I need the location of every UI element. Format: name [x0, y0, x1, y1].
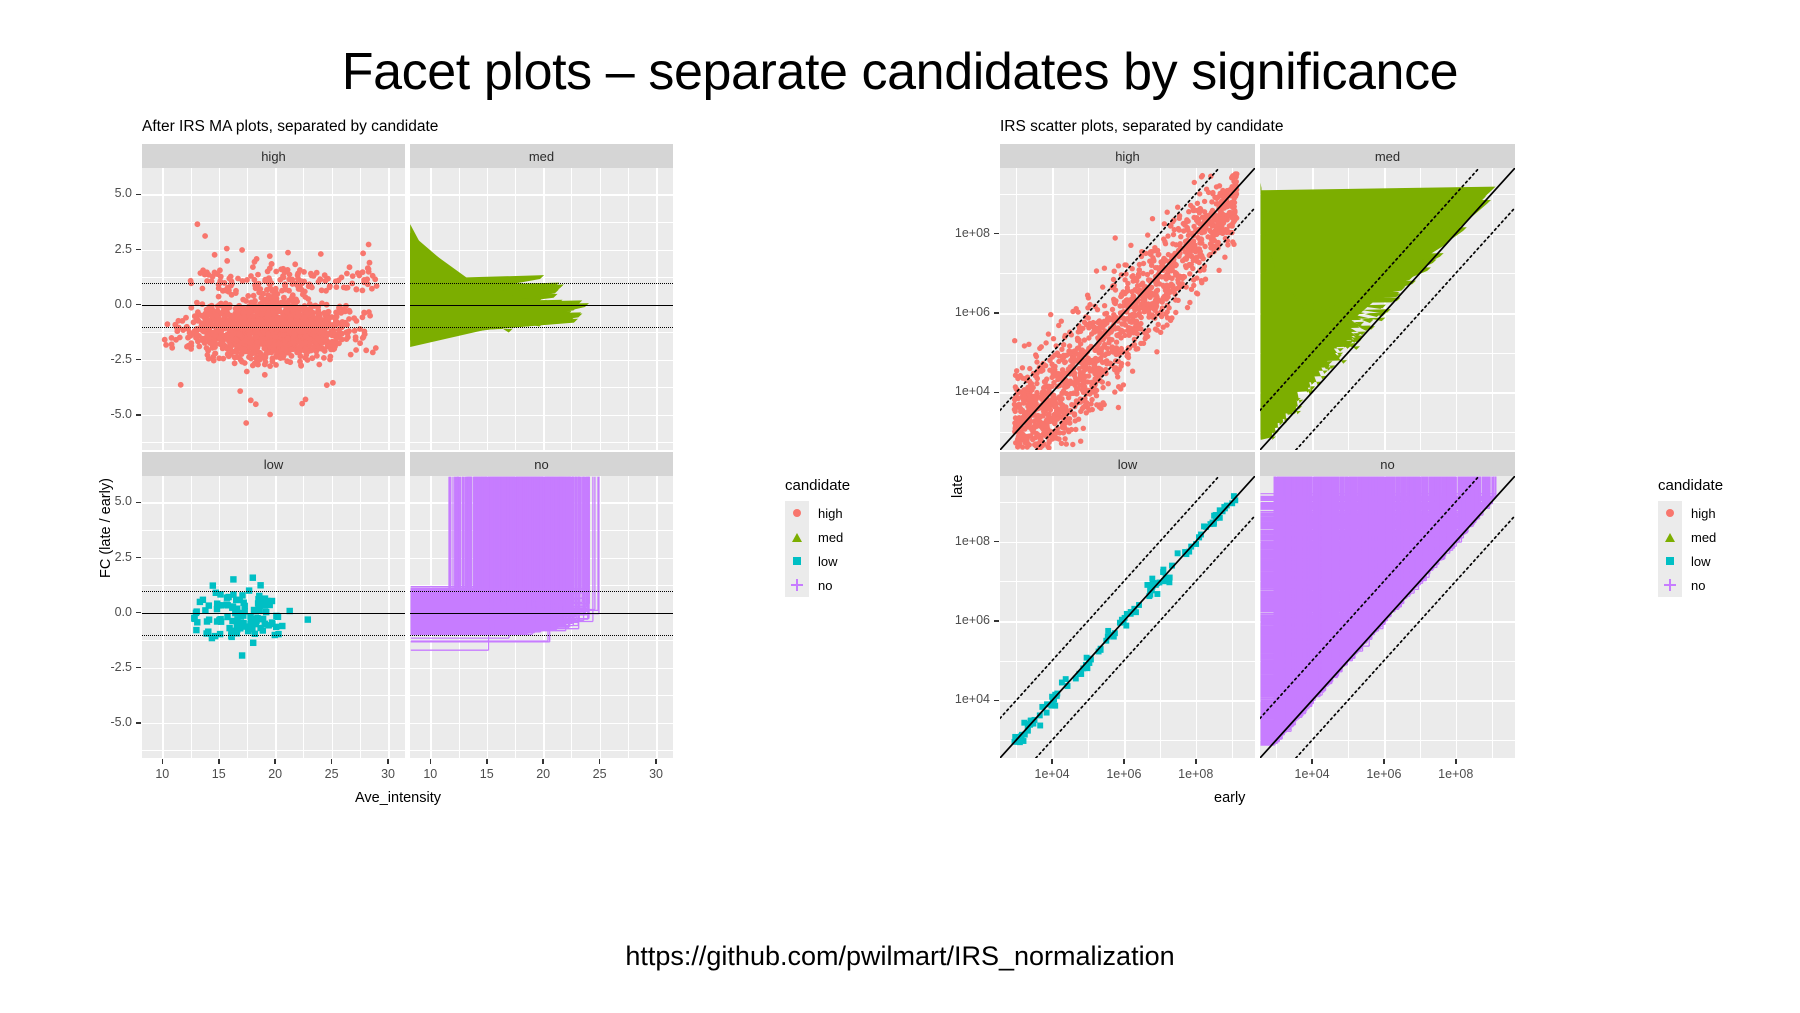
- ma-panel-high: [142, 168, 405, 450]
- ma-plot-x-axis-title: Ave_intensity: [355, 790, 441, 806]
- x-axis-tick-label: 30: [368, 767, 408, 781]
- y-axis-tick-label: 2.5: [90, 242, 132, 256]
- x-axis-tick-label: 20: [523, 767, 563, 781]
- x-axis-tick-mark: [599, 759, 601, 764]
- reference-lines-diagonal: [1000, 168, 1255, 450]
- reference-line-dotted: [410, 327, 673, 328]
- scatter-plot-y-axis-title: late: [950, 475, 966, 498]
- y-axis-tick-label: 5.0: [90, 186, 132, 200]
- square-marker: [1658, 549, 1682, 573]
- y-axis-tick-mark: [136, 249, 141, 251]
- plus-marker: [1658, 573, 1682, 597]
- legend-item-low[interactable]: low: [1658, 549, 1723, 573]
- reference-lines-diagonal: [1260, 168, 1515, 450]
- x-axis-tick-label: 1e+08: [1164, 767, 1228, 781]
- y-axis-tick-label: 0.0: [90, 297, 132, 311]
- circle-marker: [785, 501, 809, 525]
- x-axis-tick-mark: [1051, 759, 1053, 764]
- x-axis-tick-mark: [218, 759, 220, 764]
- y-axis-tick-label: 1e+08: [940, 226, 990, 240]
- ma-panel-med: [410, 168, 673, 450]
- y-axis-tick-mark: [136, 722, 141, 724]
- y-axis-tick-mark: [994, 392, 999, 394]
- ma-panel-no: [410, 476, 673, 758]
- legend-item-med[interactable]: med: [1658, 525, 1723, 549]
- facet-strip-no: no: [1260, 452, 1515, 476]
- data-points-med: [410, 168, 673, 450]
- x-axis-tick-mark: [655, 759, 657, 764]
- reference-line-zero: [410, 613, 673, 615]
- y-axis-tick-label: -2.5: [90, 660, 132, 674]
- legend-item-label: med: [818, 530, 843, 545]
- y-axis-tick-label: 1e+06: [940, 305, 990, 319]
- ma-plot-figure: After IRS MA plots, separated by candida…: [90, 118, 810, 838]
- y-axis-tick-label: 2.5: [90, 550, 132, 564]
- x-axis-tick-mark: [1123, 759, 1125, 764]
- x-axis-tick-label: 1e+06: [1092, 767, 1156, 781]
- data-points-low: [142, 476, 405, 758]
- legend-item-label: high: [1691, 506, 1716, 521]
- x-axis-tick-mark: [1311, 759, 1313, 764]
- y-axis-tick-mark: [136, 194, 141, 196]
- scatter-panel-low: [1000, 476, 1255, 758]
- legend-item-label: no: [818, 578, 832, 593]
- legend-item-high[interactable]: high: [785, 501, 850, 525]
- y-axis-tick-mark: [136, 502, 141, 504]
- legend-title: candidate: [1658, 477, 1723, 494]
- reference-line-dotted: [142, 635, 405, 636]
- legend-item-high[interactable]: high: [1658, 501, 1723, 525]
- scatter-plot-legend: candidate highmedlowno: [1658, 477, 1723, 597]
- x-axis-tick-label: 15: [467, 767, 507, 781]
- x-axis-tick-mark: [274, 759, 276, 764]
- y-axis-tick-mark: [994, 233, 999, 235]
- legend-item-no[interactable]: no: [785, 573, 850, 597]
- triangle-marker: [785, 525, 809, 549]
- legend-item-low[interactable]: low: [785, 549, 850, 573]
- facet-strip-med: med: [1260, 144, 1515, 168]
- y-axis-tick-label: 1e+06: [940, 613, 990, 627]
- reference-line-dotted: [142, 283, 405, 284]
- x-axis-tick-mark: [1383, 759, 1385, 764]
- x-axis-tick-label: 10: [410, 767, 450, 781]
- y-axis-tick-mark: [136, 612, 141, 614]
- facet-strip-high: high: [142, 144, 405, 168]
- y-axis-tick-mark: [136, 667, 141, 669]
- y-axis-tick-mark: [994, 620, 999, 622]
- y-axis-tick-label: -5.0: [90, 407, 132, 421]
- scatter-panel-high: [1000, 168, 1255, 450]
- facet-strip-label: med: [529, 149, 554, 164]
- legend-title: candidate: [785, 477, 850, 494]
- x-axis-tick-mark: [1455, 759, 1457, 764]
- x-axis-tick-label: 30: [636, 767, 676, 781]
- legend-item-label: low: [818, 554, 838, 569]
- ma-plot-legend: candidate highmedlowno: [785, 477, 850, 597]
- reference-line-zero: [410, 305, 673, 307]
- page-title: Facet plots – separate candidates by sig…: [0, 42, 1800, 102]
- plus-marker: [785, 573, 809, 597]
- x-axis-tick-label: 1e+04: [1280, 767, 1344, 781]
- x-axis-tick-mark: [387, 759, 389, 764]
- x-axis-tick-mark: [486, 759, 488, 764]
- x-axis-tick-mark: [430, 759, 432, 764]
- y-axis-tick-mark: [136, 414, 141, 416]
- facet-strip-label: no: [1380, 457, 1394, 472]
- facet-strip-med: med: [410, 144, 673, 168]
- facet-strip-no: no: [410, 452, 673, 476]
- reference-line-dotted: [410, 283, 673, 284]
- y-axis-tick-label: -5.0: [90, 715, 132, 729]
- reference-lines-diagonal: [1260, 476, 1515, 758]
- scatter-panel-no: [1260, 476, 1515, 758]
- facet-strip-label: high: [1115, 149, 1140, 164]
- facet-strip-label: low: [1118, 457, 1138, 472]
- x-axis-tick-label: 25: [580, 767, 620, 781]
- data-points-no: [410, 476, 673, 758]
- footer-url: https://github.com/pwilmart/IRS_normaliz…: [0, 941, 1800, 972]
- x-axis-tick-label: 20: [255, 767, 295, 781]
- y-axis-tick-label: -2.5: [90, 352, 132, 366]
- ma-panel-low: [142, 476, 405, 758]
- x-axis-tick-label: 25: [312, 767, 352, 781]
- reference-line-zero: [142, 613, 405, 615]
- x-axis-tick-mark: [542, 759, 544, 764]
- y-axis-tick-label: 1e+04: [940, 384, 990, 398]
- reference-lines-diagonal: [1000, 476, 1255, 758]
- facet-strip-label: med: [1375, 149, 1400, 164]
- square-marker: [785, 549, 809, 573]
- reference-line-dotted: [410, 635, 673, 636]
- legend-item-label: low: [1691, 554, 1711, 569]
- reference-line-dotted: [410, 591, 673, 592]
- legend-item-label: no: [1691, 578, 1705, 593]
- x-axis-tick-mark: [162, 759, 164, 764]
- y-axis-tick-mark: [136, 304, 141, 306]
- data-points-high: [142, 168, 405, 450]
- triangle-marker: [1658, 525, 1682, 549]
- x-axis-tick-mark: [331, 759, 333, 764]
- scatter-plot-x-axis-title: early: [1214, 790, 1245, 806]
- y-axis-tick-label: 1e+08: [940, 534, 990, 548]
- facet-strip-low: low: [142, 452, 405, 476]
- y-axis-tick-mark: [994, 541, 999, 543]
- y-axis-tick-label: 5.0: [90, 494, 132, 508]
- x-axis-tick-label: 1e+04: [1020, 767, 1084, 781]
- reference-line-dotted: [142, 327, 405, 328]
- scatter-panel-med: [1260, 168, 1515, 450]
- slide-canvas: Facet plots – separate candidates by sig…: [0, 0, 1800, 1013]
- reference-line-dotted: [142, 591, 405, 592]
- legend-item-label: high: [818, 506, 843, 521]
- x-axis-tick-label: 1e+06: [1352, 767, 1416, 781]
- y-axis-tick-label: 1e+04: [940, 692, 990, 706]
- legend-item-med[interactable]: med: [785, 525, 850, 549]
- y-axis-tick-label: 0.0: [90, 605, 132, 619]
- x-axis-tick-label: 1e+08: [1424, 767, 1488, 781]
- y-axis-tick-mark: [136, 359, 141, 361]
- x-axis-tick-label: 15: [199, 767, 239, 781]
- facet-strip-label: low: [264, 457, 284, 472]
- y-axis-tick-mark: [136, 557, 141, 559]
- ma-plot-subtitle: After IRS MA plots, separated by candida…: [142, 118, 438, 136]
- facet-strip-label: high: [261, 149, 286, 164]
- facet-strip-low: low: [1000, 452, 1255, 476]
- scatter-plot-subtitle: IRS scatter plots, separated by candidat…: [1000, 118, 1283, 136]
- x-axis-tick-label: 10: [142, 767, 182, 781]
- reference-line-zero: [142, 305, 405, 307]
- legend-item-no[interactable]: no: [1658, 573, 1723, 597]
- facet-strip-label: no: [534, 457, 548, 472]
- y-axis-tick-mark: [994, 700, 999, 702]
- legend-item-label: med: [1691, 530, 1716, 545]
- y-axis-tick-mark: [994, 312, 999, 314]
- x-axis-tick-mark: [1195, 759, 1197, 764]
- facet-strip-high: high: [1000, 144, 1255, 168]
- circle-marker: [1658, 501, 1682, 525]
- scatter-plot-figure: IRS scatter plots, separated by candidat…: [940, 118, 1700, 838]
